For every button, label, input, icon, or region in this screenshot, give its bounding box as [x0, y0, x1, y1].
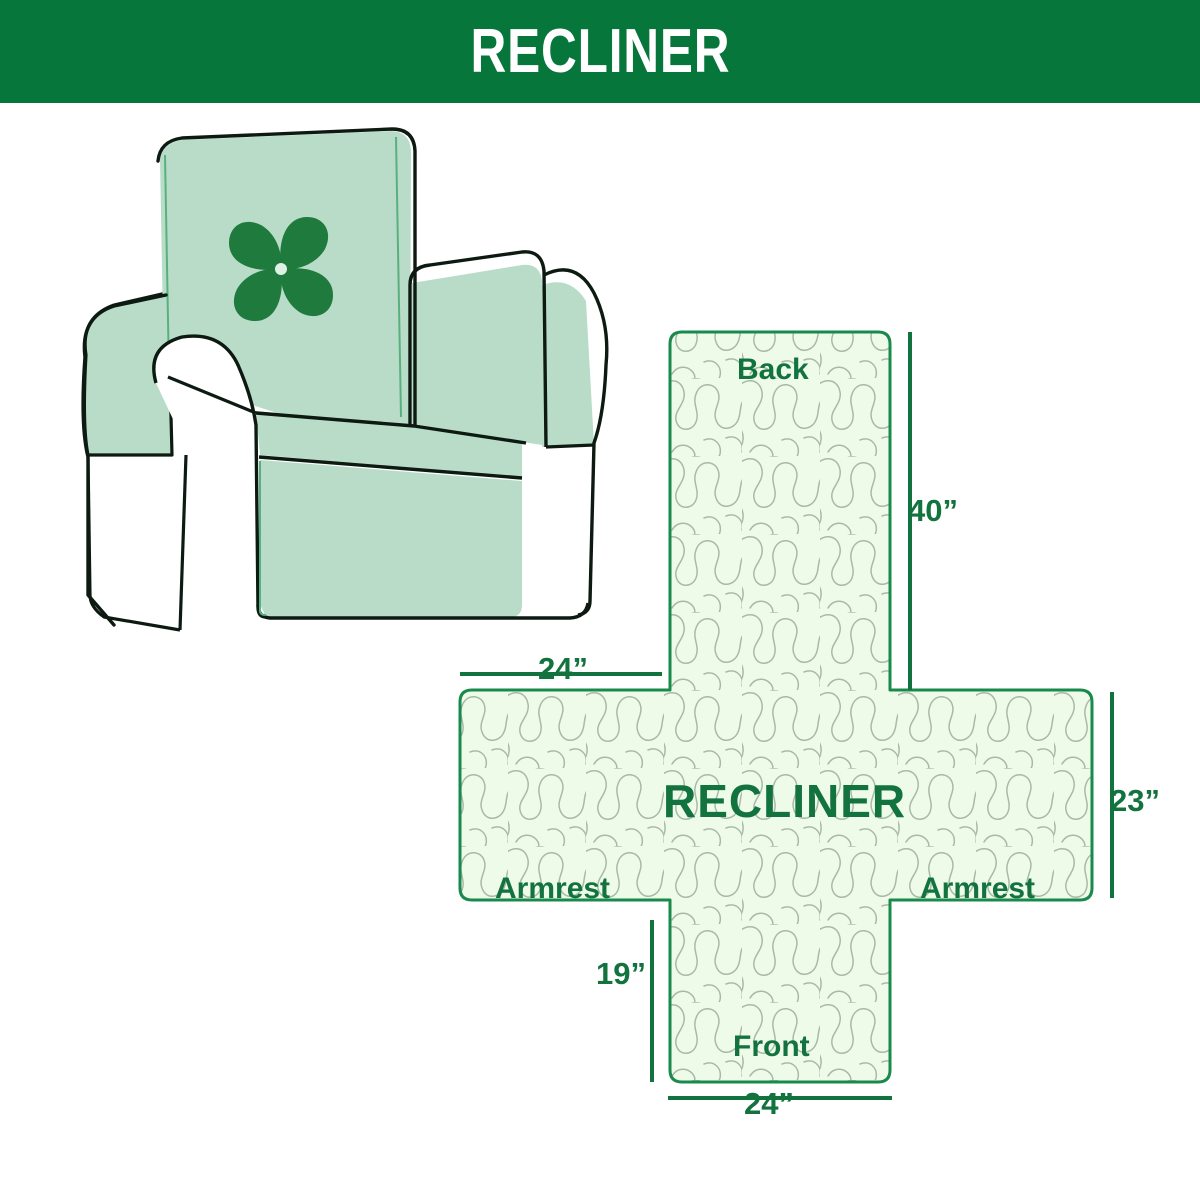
dimension-label-front-length: 19” [596, 958, 646, 989]
panel-label-front: Front [733, 1032, 810, 1062]
page-title: RECLINER [470, 21, 730, 83]
panel-label-armrest-right: Armrest [920, 874, 1035, 904]
dimension-label-armrest-top: 24” [538, 653, 588, 684]
panel-label-armrest-left: Armrest [495, 874, 610, 904]
pattern-center-label: RECLINER [663, 778, 906, 824]
header-bar: RECLINER [0, 0, 1200, 103]
dimension-label-front-width: 24” [744, 1088, 794, 1119]
dimension-label-back-length: 40” [908, 495, 958, 526]
fan-icon-hub [275, 263, 287, 275]
cross-pattern-shape [460, 332, 1092, 1082]
chair-left-base [88, 457, 180, 630]
product-dimension-infographic: RECLINER [0, 0, 1200, 1200]
panel-label-back: Back [737, 355, 809, 385]
chair-left-base-front [180, 455, 186, 630]
slipcover-pattern-diagram [430, 300, 1200, 1130]
dimension-label-seat-width: 23” [1110, 785, 1160, 816]
